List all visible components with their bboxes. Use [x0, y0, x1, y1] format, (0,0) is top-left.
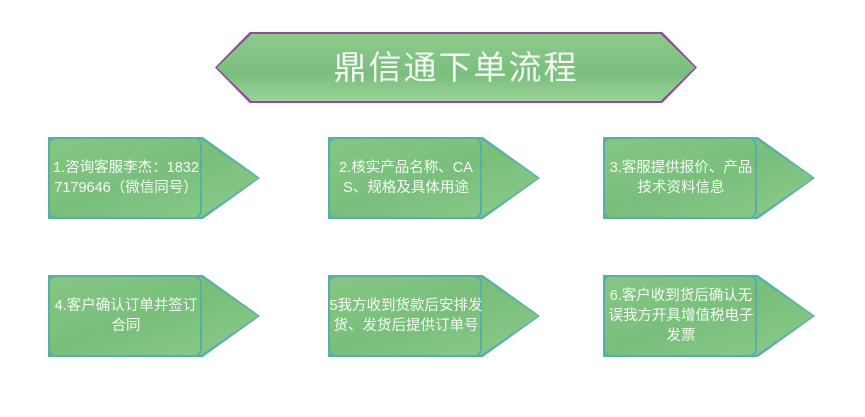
process-step-2: 2.核实产品名称、CAS、规格及具体用途 — [328, 137, 540, 219]
flowchart-canvas: 鼎信通下单流程 1.咨询客服李杰：18327179646（微信同号） 2.核实产… — [0, 0, 865, 417]
process-step-1: 1.咨询客服李杰：18327179646（微信同号） — [48, 137, 260, 219]
step-4-label: 4.客户确认订单并签订合同 — [50, 275, 202, 357]
process-step-5: 5我方收到货款后安排发货、发货后提供订单号 — [328, 275, 540, 357]
process-step-3: 3.客服提供报价、产品技术资料信息 — [603, 137, 815, 219]
step-2-label: 2.核实产品名称、CAS、规格及具体用途 — [328, 137, 484, 219]
page-title: 鼎信通下单流程 — [215, 32, 697, 103]
step-5-label: 5我方收到货款后安排发货、发货后提供订单号 — [328, 275, 484, 357]
step-1-label: 1.咨询客服李杰：18327179646（微信同号） — [50, 137, 202, 219]
step-6-label: 6.客户收到货后确认无误我方开具增值税电子发票 — [603, 275, 759, 357]
flowchart-title-banner: 鼎信通下单流程 — [215, 32, 697, 103]
step-3-label: 3.客服提供报价、产品技术资料信息 — [605, 137, 757, 219]
process-step-6: 6.客户收到货后确认无误我方开具增值税电子发票 — [603, 275, 815, 357]
process-step-4: 4.客户确认订单并签订合同 — [48, 275, 260, 357]
